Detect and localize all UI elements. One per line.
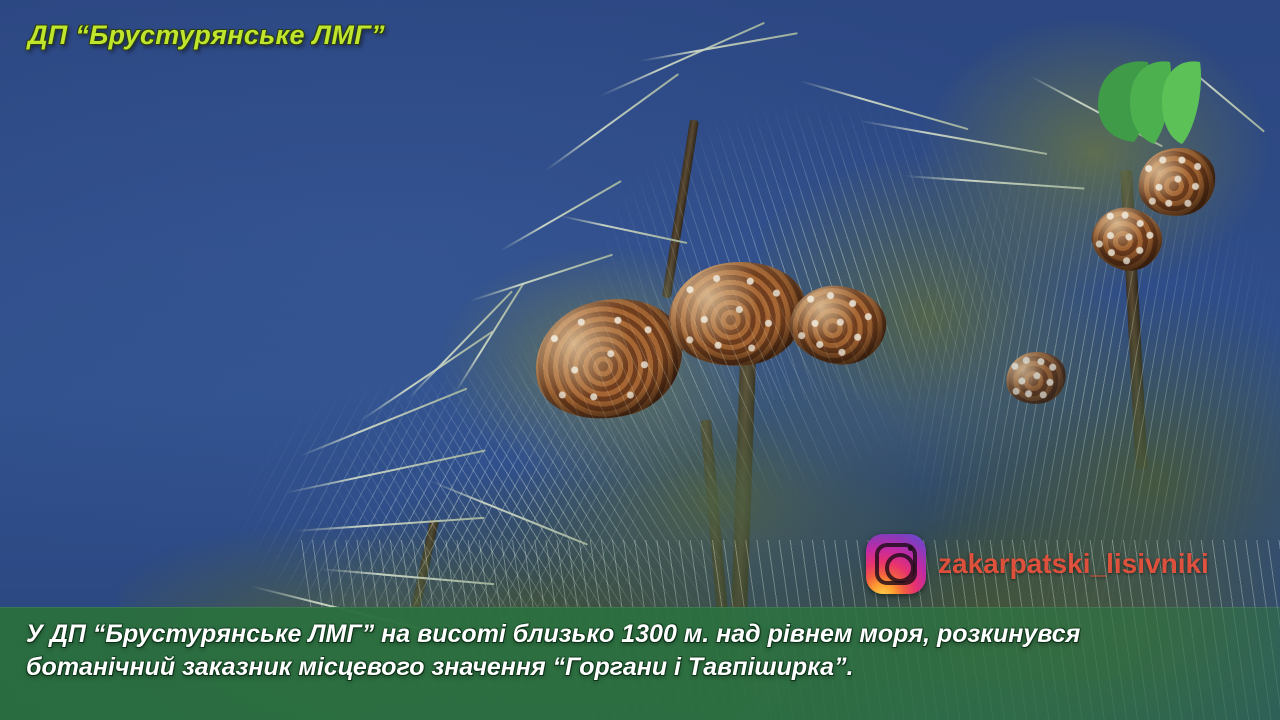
video-frame: ДП “Брустурянське ЛМГ” zakarpatski_lisiv… (0, 0, 1280, 720)
instagram-watermark[interactable]: zakarpatski_lisivniki (866, 534, 1209, 594)
caption-band: У ДП “Брустурянське ЛМГ” на висоті близь… (0, 607, 1280, 720)
instagram-lens-icon (885, 553, 915, 583)
instagram-icon[interactable] (866, 534, 926, 594)
forest-leaf-logo (1090, 52, 1208, 152)
caption-line-1: У ДП “Брустурянське ЛМГ” на висоті близь… (26, 618, 1254, 651)
instagram-handle[interactable]: zakarpatski_lisivniki (938, 548, 1209, 580)
page-title: ДП “Брустурянське ЛМГ” (28, 20, 385, 51)
caption-text: У ДП “Брустурянське ЛМГ” на висоті близь… (26, 618, 1254, 684)
pine-needles-overlay (480, 240, 940, 500)
instagram-dot-icon (908, 546, 913, 551)
caption-line-2: ботанічний заказник місцевого значення “… (26, 651, 1254, 684)
